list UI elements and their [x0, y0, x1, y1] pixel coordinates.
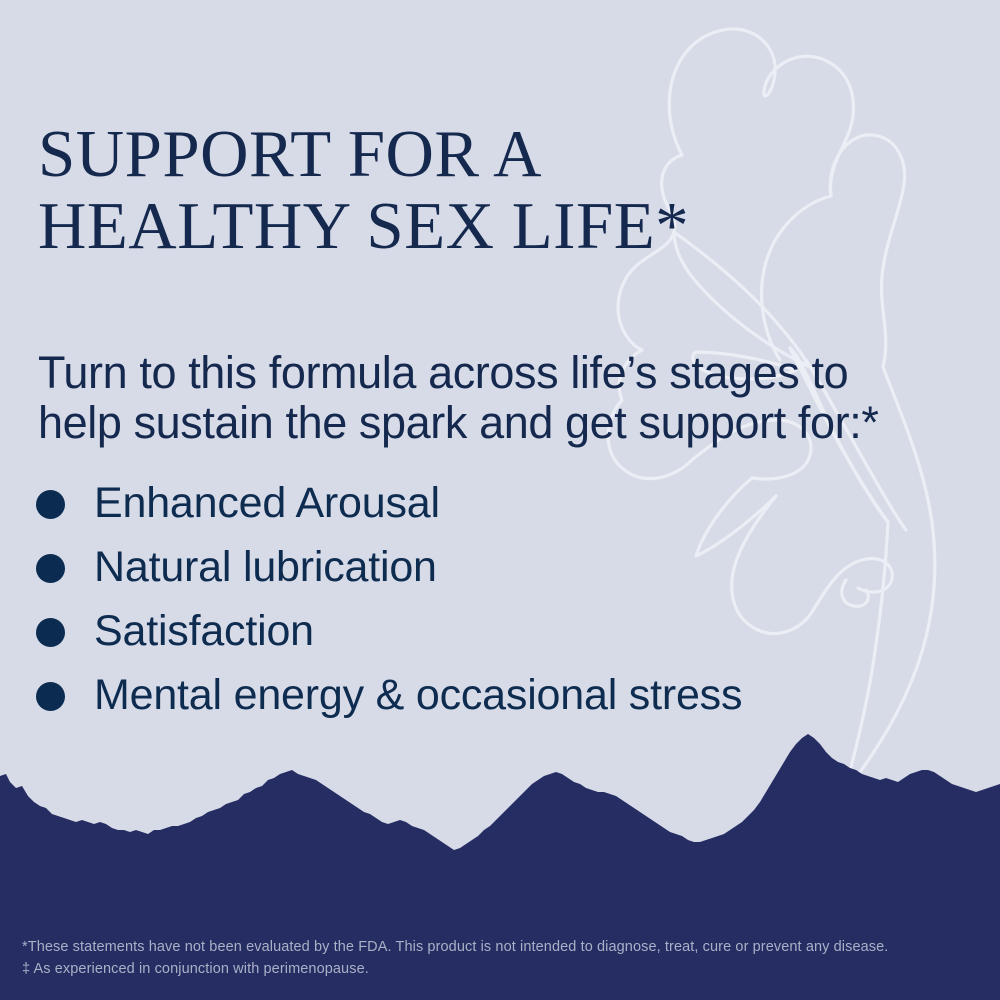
- bullet-dot-icon: [36, 618, 65, 647]
- intro-paragraph: Turn to this formula across life’s stage…: [38, 348, 998, 448]
- footnotes: *These statements have not been evaluate…: [22, 936, 987, 980]
- benefits-list: Enhanced Arousal Natural lubrication Sat…: [36, 472, 966, 728]
- bullet-dot-icon: [36, 554, 65, 583]
- page-title: SUPPORT FOR A HEALTHY SEX LIFE*: [38, 118, 738, 262]
- bullet-dot-icon: [36, 682, 65, 711]
- bullet-dot-icon: [36, 490, 65, 519]
- benefit-label: Mental energy & occasional stress: [94, 674, 742, 717]
- footnote-line: *These statements have not been evaluate…: [22, 936, 987, 958]
- benefit-label: Satisfaction: [94, 610, 314, 653]
- benefit-label: Enhanced Arousal: [94, 482, 440, 525]
- list-item: Natural lubrication: [36, 536, 966, 600]
- benefit-label: Natural lubrication: [94, 546, 437, 589]
- list-item: Enhanced Arousal: [36, 472, 966, 536]
- list-item: Mental energy & occasional stress: [36, 664, 966, 728]
- list-item: Satisfaction: [36, 600, 966, 664]
- footnote-line: ‡ As experienced in conjunction with per…: [22, 958, 987, 980]
- promo-card: SUPPORT FOR A HEALTHY SEX LIFE* Turn to …: [0, 0, 1000, 1000]
